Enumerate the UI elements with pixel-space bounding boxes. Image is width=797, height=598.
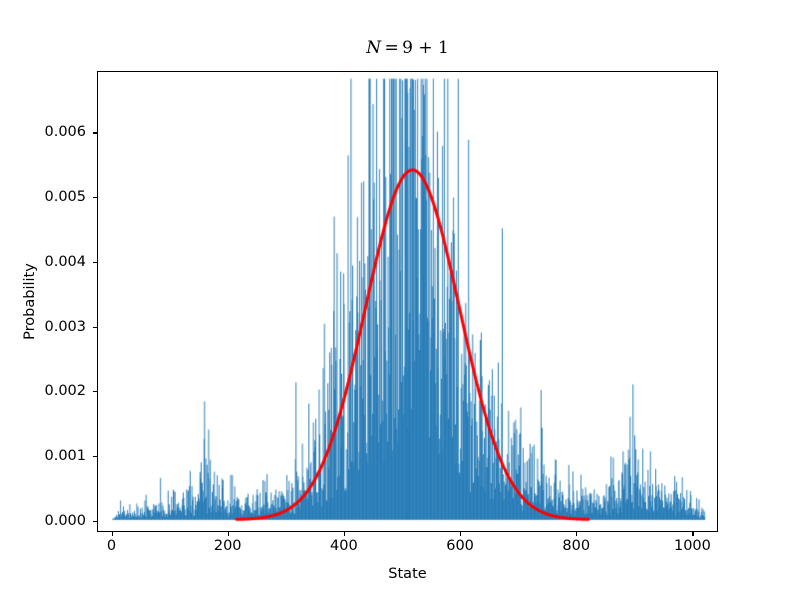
chart-canvas <box>98 72 717 531</box>
y-tick-label: 0.006 <box>44 124 86 140</box>
y-tick-label: 0.002 <box>44 383 86 399</box>
title-expression: 9 + 1 <box>402 38 449 58</box>
y-tick-label: 0.004 <box>44 254 86 270</box>
y-tick-mark <box>93 456 97 457</box>
title-equals: = <box>384 38 398 58</box>
x-axis-label: State <box>97 566 718 582</box>
y-tick-mark <box>93 132 97 133</box>
y-tick-mark <box>93 391 97 392</box>
x-tick-mark <box>692 532 693 536</box>
x-tick-label: 200 <box>214 538 242 554</box>
chart-title: N = 9 + 1 <box>97 38 718 58</box>
plot-area <box>97 71 718 532</box>
x-tick-mark <box>112 532 113 536</box>
x-tick-label: 1000 <box>674 538 711 554</box>
y-tick-mark <box>93 197 97 198</box>
x-tick-mark <box>344 532 345 536</box>
x-tick-mark <box>576 532 577 536</box>
y-tick-label: 0.005 <box>44 189 86 205</box>
x-tick-label: 0 <box>107 538 116 554</box>
y-tick-mark <box>93 327 97 328</box>
y-tick-label: 0.001 <box>44 448 86 464</box>
y-tick-mark <box>93 262 97 263</box>
y-axis-label: Probability <box>22 71 42 532</box>
y-tick-label: 0.003 <box>44 319 86 335</box>
x-tick-label: 800 <box>562 538 590 554</box>
y-tick-label: 0.000 <box>44 513 86 529</box>
x-tick-label: 400 <box>330 538 358 554</box>
y-tick-mark <box>93 521 97 522</box>
x-tick-label: 600 <box>446 538 474 554</box>
title-symbol: N <box>366 38 381 58</box>
x-tick-mark <box>228 532 229 536</box>
x-tick-mark <box>460 532 461 536</box>
chart-figure: N = 9 + 1 02004006008001000 0.0000.0010.… <box>0 0 797 598</box>
